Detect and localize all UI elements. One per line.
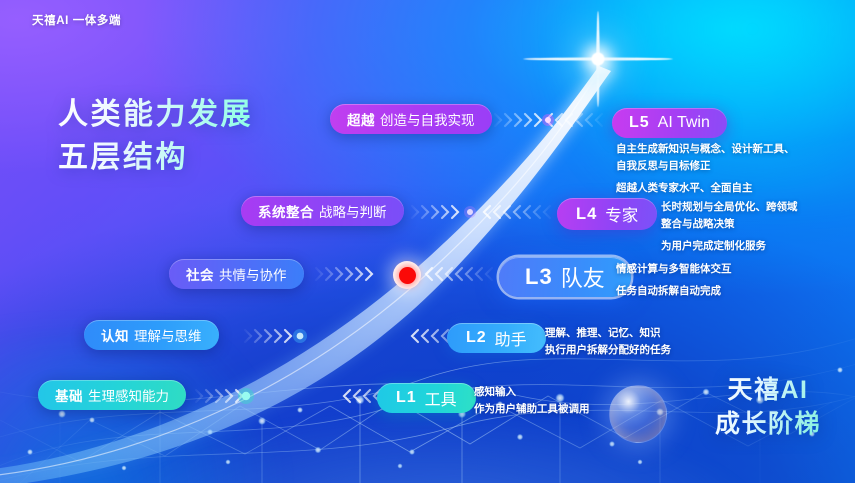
level-description-l2: 理解、推理、记忆、知识 执行用户拆解分配好的任务 <box>545 325 671 359</box>
level-number: L1 <box>396 389 417 407</box>
capability-title: 系统整合 <box>258 201 314 221</box>
level-pill-l4[interactable]: L4 专家 <box>557 198 657 230</box>
level-name: AI Twin <box>658 114 710 132</box>
level-pill-l5[interactable]: L5 AI Twin <box>612 108 727 138</box>
level-pill-l1[interactable]: L1 工具 <box>377 383 476 413</box>
level-name: 专家 <box>605 202 638 226</box>
page-title-line-1: 人类能力发展 <box>58 94 253 137</box>
level-description-l5: 自主生成新知识与概念、设计新工具、 自我反思与目标修正 超越人类专家水平、全面自… <box>616 141 795 197</box>
brand-logo-text: 天禧AI 一体多端 <box>32 12 121 28</box>
current-position-marker <box>393 261 421 289</box>
capability-title: 基础 <box>55 385 83 405</box>
level-pill-l3[interactable]: L3 队友 <box>499 257 631 297</box>
level-number: L5 <box>629 114 650 132</box>
capability-subtitle: 创造与自我实现 <box>380 109 475 129</box>
level-number: L2 <box>466 329 487 347</box>
capability-subtitle: 战略与判断 <box>319 201 387 221</box>
level-pill-l2[interactable]: L2 助手 <box>447 323 546 353</box>
sphere-orb-graphic <box>609 385 667 443</box>
page-title-line-2: 五层结构 <box>58 137 253 180</box>
desc-line: 作为用户辅助工具被调用 <box>474 401 590 418</box>
capability-subtitle: 共情与协作 <box>219 264 287 284</box>
level-name: 队友 <box>561 261 605 293</box>
capability-subtitle: 生理感知能力 <box>88 385 169 405</box>
capability-pill-system-integration[interactable]: 系统整合 战略与判断 <box>241 196 404 226</box>
desc-line: 长时规划与全局优化、跨领域 <box>661 199 798 216</box>
capability-pill-cognition[interactable]: 认知 理解与思维 <box>84 320 219 350</box>
level-description-l4: 长时规划与全局优化、跨领域 整合与战略决策 为用户完成定制化服务 <box>661 199 798 255</box>
page-title: 人类能力发展 五层结构 <box>58 94 253 179</box>
capability-title: 社会 <box>186 264 214 284</box>
level-number: L4 <box>576 205 597 224</box>
bottom-brand-line-1: 天禧AI <box>715 374 821 408</box>
bottom-brand-title: 天禧AI 成长阶梯 <box>715 374 821 441</box>
desc-line: 执行用户拆解分配好的任务 <box>545 342 671 359</box>
desc-line: 理解、推理、记忆、知识 <box>545 325 671 342</box>
desc-line: 超越人类专家水平、全面自主 <box>616 180 795 197</box>
capability-pill-social[interactable]: 社会 共情与协作 <box>169 259 304 289</box>
level-name: 工具 <box>425 386 457 410</box>
capability-subtitle: 理解与思维 <box>134 325 202 345</box>
infographic-canvas: 天禧AI 一体多端 人类能力发展 五层结构 超越 创造与自我实现 系统整合 战略… <box>0 0 855 483</box>
capability-pill-transcendence[interactable]: 超越 创造与自我实现 <box>330 104 492 134</box>
capability-title: 认知 <box>101 325 129 345</box>
desc-line: 整合与战略决策 <box>661 216 798 233</box>
level-number: L3 <box>525 264 553 290</box>
desc-line: 情感计算与多智能体交互 <box>616 261 732 278</box>
desc-line: 感知输入 <box>474 384 590 401</box>
level-name: 助手 <box>495 326 527 350</box>
level-description-l1: 感知输入 作为用户辅助工具被调用 <box>474 384 590 418</box>
desc-line: 自主生成新知识与概念、设计新工具、 <box>616 141 795 158</box>
capability-pill-foundation[interactable]: 基础 生理感知能力 <box>38 380 186 410</box>
sparkle-star-icon <box>597 58 599 60</box>
level-description-l3: 情感计算与多智能体交互 任务自动拆解自动完成 <box>616 261 732 300</box>
bottom-brand-line-2: 成长阶梯 <box>715 408 821 442</box>
desc-line: 自我反思与目标修正 <box>616 158 795 175</box>
capability-title: 超越 <box>347 109 375 129</box>
desc-line: 任务自动拆解自动完成 <box>616 283 732 300</box>
desc-line: 为用户完成定制化服务 <box>661 238 798 255</box>
